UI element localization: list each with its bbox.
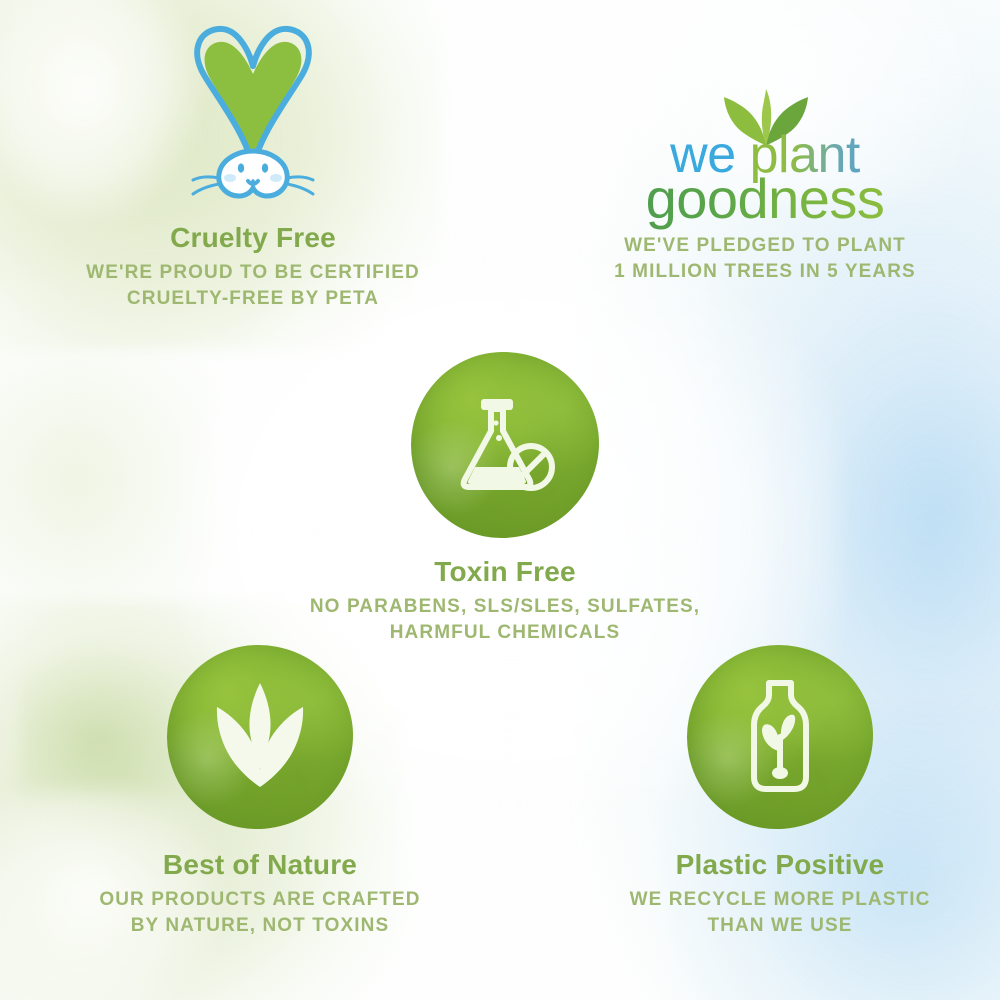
badge-subtitle-best-of-nature: OUR PRODUCTS ARE CRAFTED BY NATURE, NOT … <box>40 887 480 938</box>
badge-subtitle-line: No PARABENS, SLS/SLES, SULFATES, <box>310 596 700 617</box>
badge-subtitle-line: 1 MILLION TREES IN 5 YEARS <box>614 261 916 282</box>
badge-plant-goodness: we plant goodness WE'VE PLEDGED TO PLANT… <box>540 95 990 284</box>
badge-subtitle-plant-goodness: WE'VE PLEDGED TO PLANT 1 MILLION TREES I… <box>540 233 990 284</box>
infographic-canvas: Cruelty Free WE'RE PROUD TO BE CERTIFIED… <box>0 0 1000 1000</box>
toxin-free-disc <box>411 352 599 538</box>
badge-subtitle-line: THAN WE USE <box>707 915 852 936</box>
badge-subtitle-line: HARMFUL CHEMICALS <box>390 622 621 643</box>
badge-title-cruelty-free: Cruelty Free <box>18 222 488 254</box>
badge-toxin-free: Toxin Free No PARABENS, SLS/SLES, SULFAT… <box>280 352 730 645</box>
plastic-positive-disc <box>687 645 873 829</box>
badge-subtitle-cruelty-free: WE'RE PROUD TO BE CERTIFIED CRUELTY-FREE… <box>18 260 488 311</box>
we-plant-goodness-logo: we plant goodness <box>615 95 915 215</box>
logo-line-two: goodness <box>615 171 915 227</box>
badge-subtitle-plastic-positive: WE RECYCLE MORE PLASTIC THAN WE USE <box>560 887 1000 938</box>
badge-subtitle-line: OUR PRODUCTS ARE CRAFTED <box>99 889 420 910</box>
logo-word-goodness: goodness <box>646 167 885 230</box>
badge-subtitle-line: WE RECYCLE MORE PLASTIC <box>630 889 931 910</box>
bottle-sprout-icon <box>732 679 828 795</box>
watercolor-wash-left-middle <box>0 300 210 660</box>
badge-subtitle-line: WE'RE PROUD TO BE CERTIFIED <box>86 262 420 283</box>
three-leaves-icon <box>207 681 313 793</box>
badge-subtitle-line: WE'VE PLEDGED TO PLANT <box>624 235 906 256</box>
badge-title-plastic-positive: Plastic Positive <box>560 849 1000 881</box>
badge-subtitle-line: BY NATURE, NOT TOXINS <box>131 915 390 936</box>
flask-no-toxins-icon <box>449 391 561 499</box>
disc-icon-holder <box>687 645 873 829</box>
best-of-nature-disc <box>167 645 353 829</box>
disc-icon-holder <box>167 645 353 829</box>
badge-title-toxin-free: Toxin Free <box>280 556 730 588</box>
badge-subtitle-line: CRUELTY-FREE BY PETA <box>127 288 379 309</box>
badge-plastic-positive: Plastic Positive WE RECYCLE MORE PLASTIC… <box>560 645 1000 938</box>
disc-icon-holder <box>411 352 599 538</box>
badge-best-of-nature: Best of Nature OUR PRODUCTS ARE CRAFTED … <box>40 645 480 938</box>
badge-title-best-of-nature: Best of Nature <box>40 849 480 881</box>
badge-subtitle-toxin-free: No PARABENS, SLS/SLES, SULFATES, HARMFUL… <box>280 594 730 645</box>
badge-cruelty-free: Cruelty Free WE'RE PROUD TO BE CERTIFIED… <box>18 18 488 311</box>
peta-bunny-icon <box>163 18 343 208</box>
